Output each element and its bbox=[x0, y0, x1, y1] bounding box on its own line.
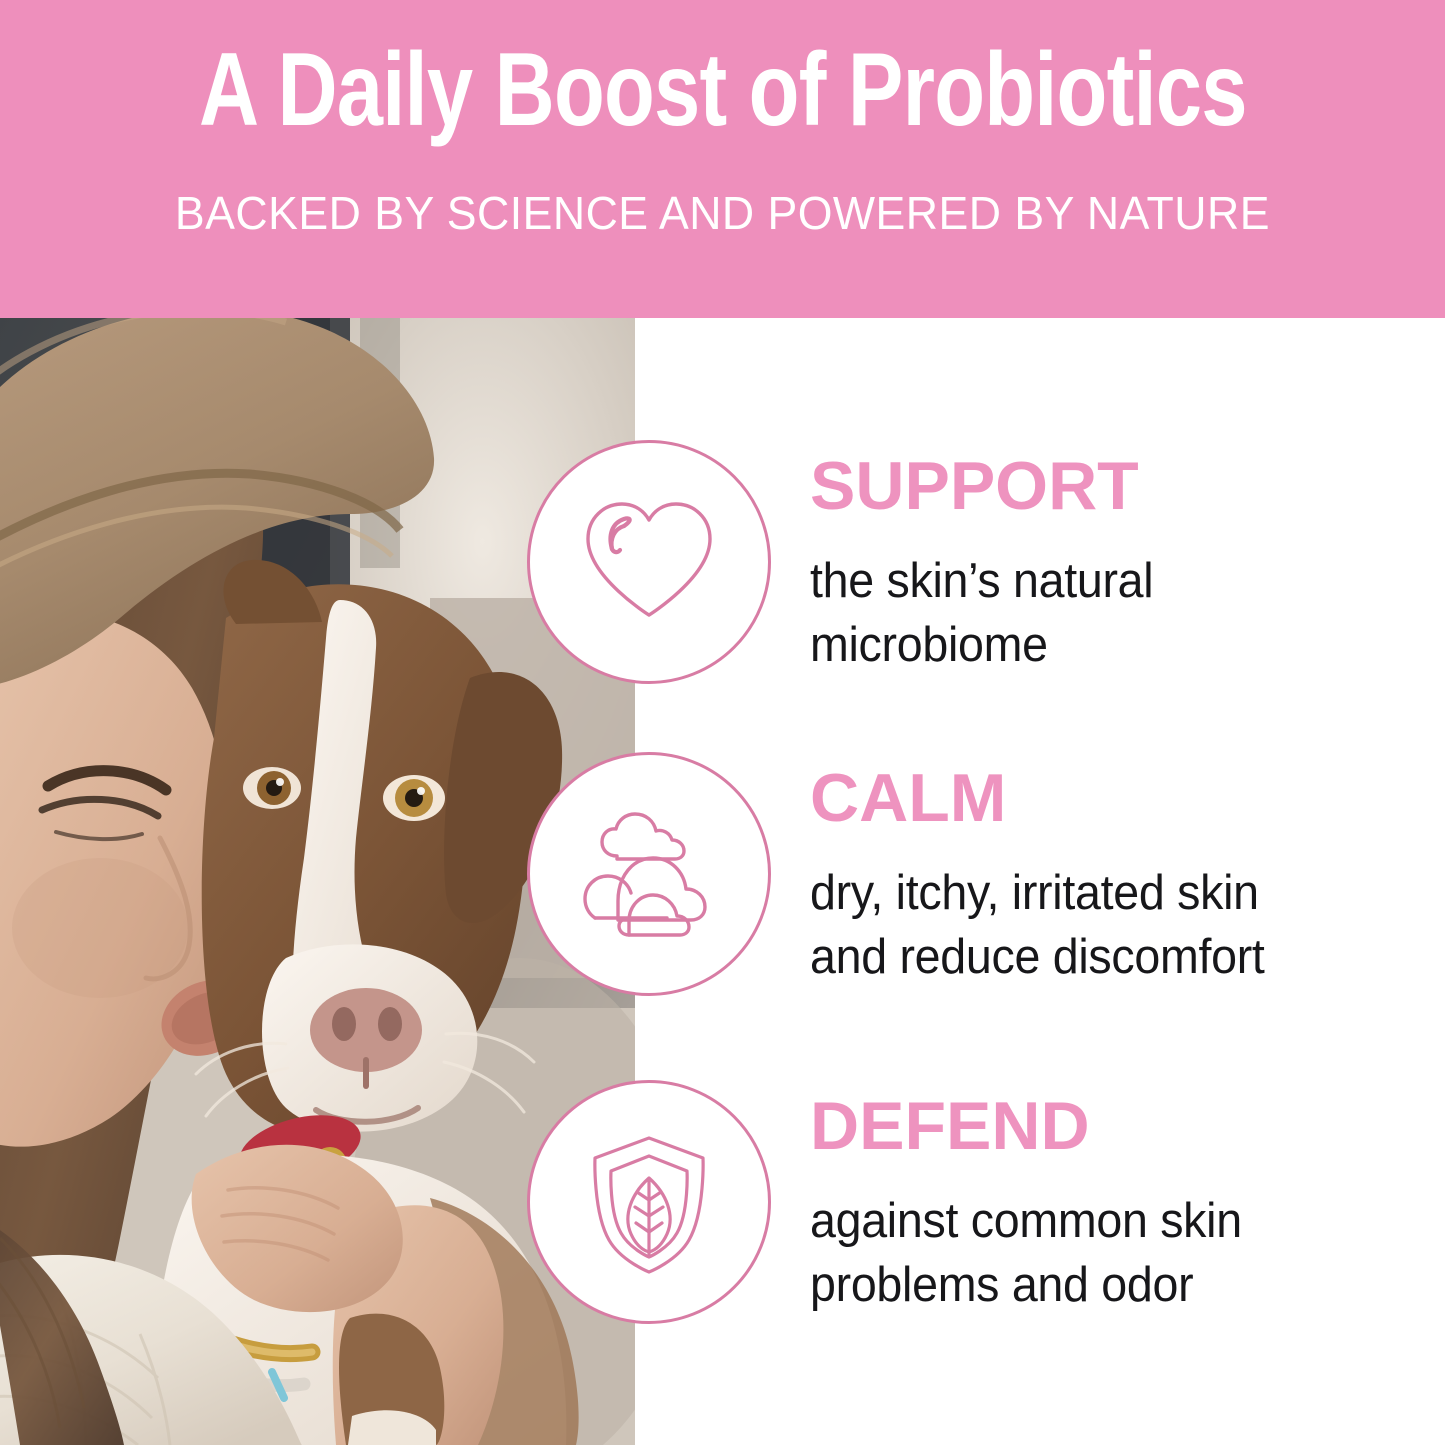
page-title: A Daily Boost of Probiotics bbox=[199, 38, 1247, 142]
benefit-body-defend: against common skin problems and odor bbox=[810, 1190, 1399, 1317]
benefit-item-support: SUPPORT the skin’s natural microbiome bbox=[0, 440, 1445, 740]
benefit-text-calm: CALM dry, itchy, irritated skin and redu… bbox=[810, 764, 1430, 989]
benefit-heading-support: SUPPORT bbox=[810, 452, 1430, 520]
header-band: A Daily Boost of Probiotics BACKED BY SC… bbox=[0, 0, 1445, 318]
benefit-body-calm: dry, itchy, irritated skin and reduce di… bbox=[810, 862, 1399, 989]
benefit-body-line: and reduce discomfort bbox=[810, 926, 1399, 990]
benefit-body-line: against common skin bbox=[810, 1190, 1399, 1254]
benefit-body-line: microbiome bbox=[810, 614, 1399, 678]
benefit-text-support: SUPPORT the skin’s natural microbiome bbox=[810, 452, 1430, 677]
clouds-icon bbox=[527, 752, 771, 996]
benefit-heading-calm: CALM bbox=[810, 764, 1430, 832]
page-subtitle: BACKED BY SCIENCE AND POWERED BY NATURE bbox=[175, 190, 1270, 236]
benefit-body-line: problems and odor bbox=[810, 1254, 1399, 1318]
benefit-body-line: the skin’s natural bbox=[810, 550, 1399, 614]
shield-leaf-icon bbox=[527, 1080, 771, 1324]
benefit-text-defend: DEFEND against common skin problems and … bbox=[810, 1092, 1430, 1317]
benefit-item-defend: DEFEND against common skin problems and … bbox=[0, 1080, 1445, 1380]
benefit-body-support: the skin’s natural microbiome bbox=[810, 550, 1399, 677]
benefit-item-calm: CALM dry, itchy, irritated skin and redu… bbox=[0, 752, 1445, 1052]
benefit-heading-defend: DEFEND bbox=[810, 1092, 1430, 1160]
heart-icon bbox=[527, 440, 771, 684]
infographic-canvas: A Daily Boost of Probiotics BACKED BY SC… bbox=[0, 0, 1445, 1445]
benefit-body-line: dry, itchy, irritated skin bbox=[810, 862, 1399, 926]
